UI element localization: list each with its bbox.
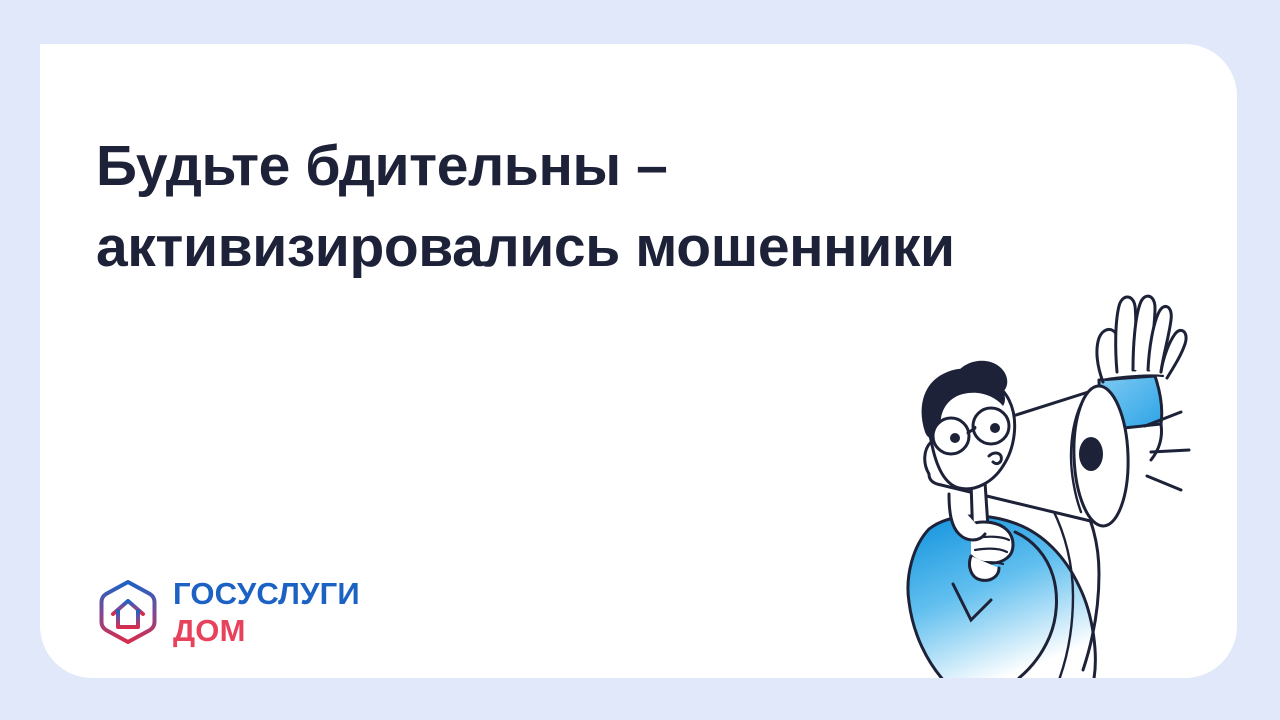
- logo-word-dom: Дом: [173, 615, 360, 646]
- page-title: Будьте бдительны – активизировались моше…: [96, 126, 1076, 288]
- illustration-group: [908, 296, 1189, 678]
- sound-lines-icon: [1145, 412, 1189, 490]
- brand-logo[interactable]: Госуслуги Дом: [97, 578, 360, 646]
- content-card: Будьте бдительны – активизировались моше…: [40, 44, 1237, 678]
- raised-hand-icon: [1097, 296, 1186, 382]
- eye-right: [990, 423, 1000, 433]
- raised-sleeve-body-link-2: [1151, 424, 1162, 460]
- megaphone-core: [1079, 437, 1103, 471]
- logo-wordmark: Госуслуги Дом: [173, 578, 360, 646]
- eye-left: [950, 433, 960, 443]
- person-with-megaphone-illustration: [867, 284, 1217, 678]
- slide-canvas: Будьте бдительны – активизировались моше…: [0, 0, 1280, 720]
- hexagon-house-icon: [97, 579, 159, 645]
- logo-word-gosuslugi: Госуслуги: [173, 578, 360, 609]
